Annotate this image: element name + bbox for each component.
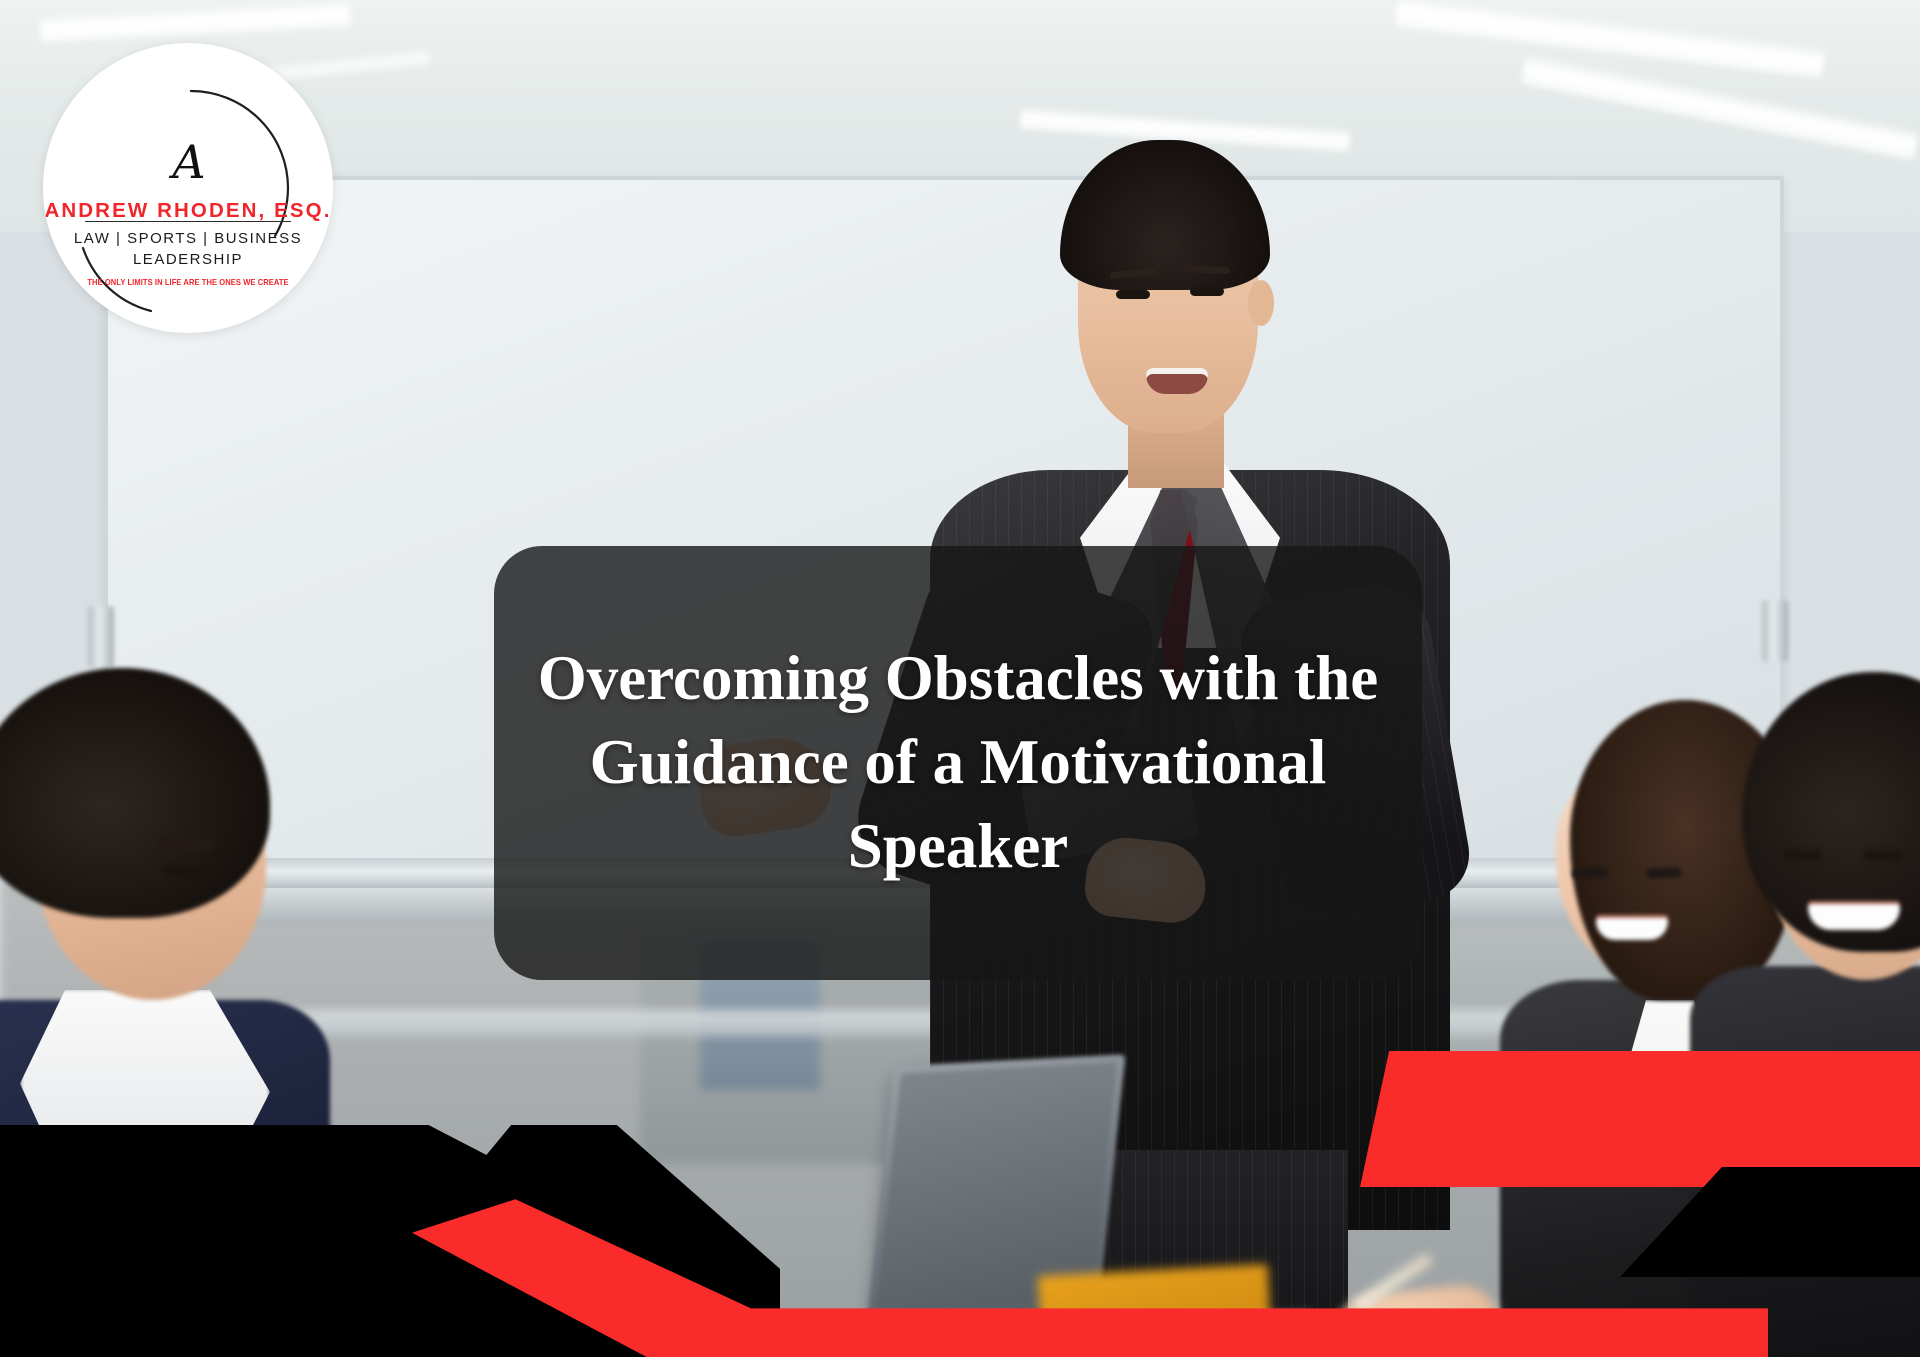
brand-logo-badge[interactable]: A ANDREW RHODEN, ESQ. LAW | SPORTS | BUS…: [43, 43, 333, 333]
attendee-right-smile: [1808, 904, 1900, 930]
logo-tagline: THE ONLY LIMITS IN LIFE ARE THE ONES WE …: [55, 278, 322, 287]
logo-monogram-signature: A: [43, 135, 333, 189]
title-line-3: Speaker: [848, 811, 1069, 881]
feature-image-canvas: A ANDREW RHODEN, ESQ. LAW | SPORTS | BUS…: [0, 0, 1920, 1357]
whiteboard-clip: [88, 606, 114, 668]
presenter-eye: [1190, 287, 1224, 296]
presenter-hair: [1060, 140, 1270, 290]
attendee-woman-eye: [1646, 867, 1682, 878]
logo-subtitle: LAW | SPORTS | BUSINESS LEADERSHIP: [43, 228, 333, 270]
attendee-woman-smile: [1596, 918, 1668, 940]
logo-subtitle-line2: LEADERSHIP: [133, 251, 243, 268]
logo-divider: [85, 221, 291, 222]
logo-name: ANDREW RHODEN, ESQ.: [43, 199, 333, 223]
attendee-right-eye: [1864, 850, 1904, 861]
title-line-1: Overcoming Obstacles with the: [538, 643, 1379, 713]
presenter-eye: [1116, 290, 1150, 299]
attendee-woman-eye: [1572, 867, 1608, 879]
title-line-2: Guidance of a Motivational: [590, 727, 1327, 797]
title-overlay-panel: Overcoming Obstacles with the Guidance o…: [494, 546, 1422, 980]
attendee-right-eye: [1782, 850, 1822, 861]
whiteboard-clip: [1762, 600, 1788, 662]
attendee-right-suit: [1690, 966, 1920, 1357]
logo-subtitle-line1: LAW | SPORTS | BUSINESS: [74, 230, 302, 247]
page-title: Overcoming Obstacles with the Guidance o…: [531, 637, 1385, 888]
presenter-ear: [1248, 280, 1274, 326]
presenter-mouth: [1146, 368, 1208, 394]
